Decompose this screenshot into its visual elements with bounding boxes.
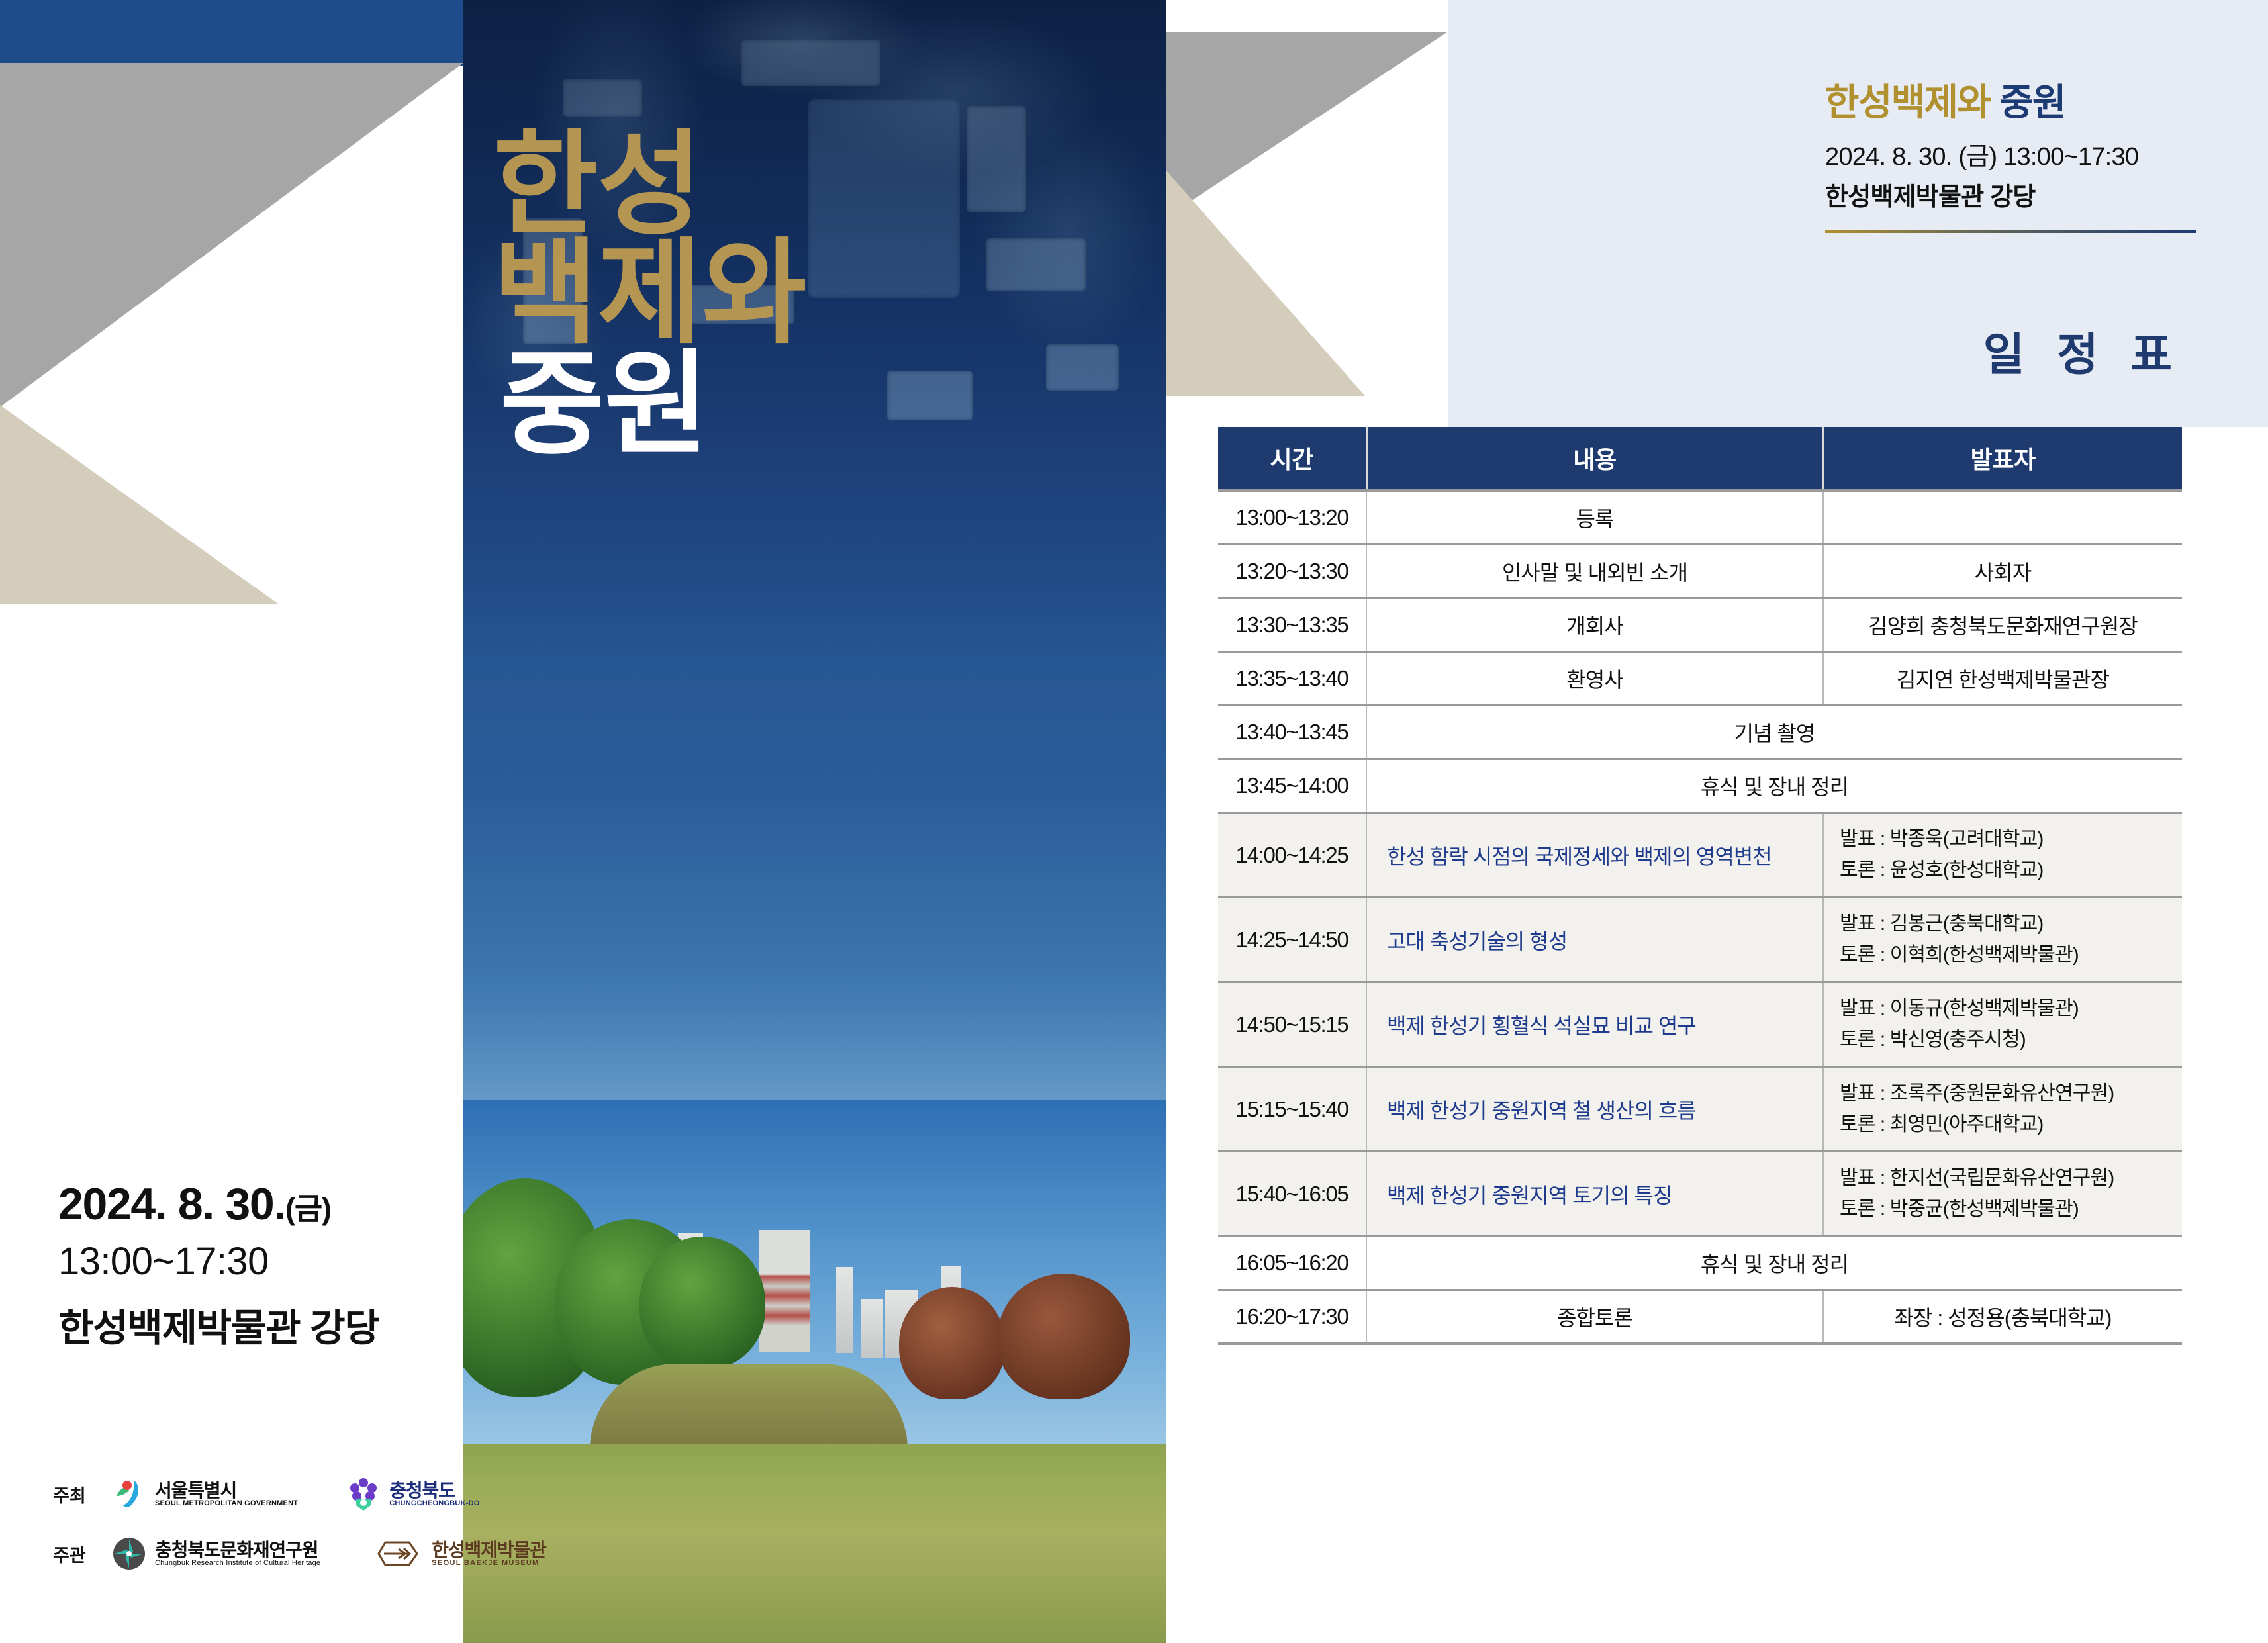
column-header-content: 내용 xyxy=(1366,427,1823,491)
table-row: 13:20~13:30인사말 및 내외빈 소개사회자 xyxy=(1218,545,2182,598)
poster-title-line-3: 중원 xyxy=(500,352,1155,457)
poster-title-line-1: 한성 xyxy=(493,132,1155,237)
organizer-org-en: SEOUL BAEKJE MUSEUM xyxy=(432,1560,545,1568)
cell-time: 15:15~15:40 xyxy=(1218,1067,1366,1152)
cell-content: 고대 축성기술의 형성 xyxy=(1366,898,1823,982)
discussant-line: 토론 : 이혁희(한성백제박물관) xyxy=(1840,940,2174,971)
organizer-row: 주관 xyxy=(53,1536,577,1572)
cell-time: 14:25~14:50 xyxy=(1218,898,1366,982)
presenter-line: 발표 : 조록주(중원문화유산연구원) xyxy=(1840,1078,2174,1109)
table-row: 14:25~14:50고대 축성기술의 형성발표 : 김봉근(충북대학교)토론 … xyxy=(1218,898,2182,982)
seoul-baekje-museum-logo-text: 한성백제박물관 SEOUL BAEKJE MUSEUM xyxy=(432,1540,545,1568)
column-header-speaker: 발표자 xyxy=(1823,427,2182,491)
table-row: 14:50~15:15백제 한성기 횡혈식 석실묘 비교 연구발표 : 이동규(… xyxy=(1218,982,2182,1067)
cell-content: 백제 한성기 중원지역 토기의 특징 xyxy=(1366,1152,1823,1237)
event-info-block: 2024. 8. 30.(금) 13:00~17:30 한성백제박물관 강당 xyxy=(58,1178,379,1352)
credits-block: 주최 서울특별시 SEOUL METROPOLITAN GOVERNMENT xyxy=(53,1476,577,1595)
cell-content: 등록 xyxy=(1366,491,1823,545)
cell-speaker: 발표 : 한지선(국립문화유산연구원)토론 : 박중균(한성백제박물관) xyxy=(1823,1152,2182,1237)
discussant-line: 토론 : 윤성호(한성대학교) xyxy=(1840,855,2174,886)
host-org-ko: 서울특별시 xyxy=(155,1481,298,1500)
organizer-label: 주관 xyxy=(53,1541,94,1567)
schedule-table: 시간 내용 발표자 13:00~13:20등록13:20~13:30인사말 및 … xyxy=(1218,427,2182,1345)
cell-content: 인사말 및 내외빈 소개 xyxy=(1366,545,1823,598)
credit-org-seoul: 서울특별시 SEOUL METROPOLITAN GOVERNMENT xyxy=(111,1476,298,1512)
tree xyxy=(899,1287,1005,1399)
poster-panel: 한성 백제와 중원 2024. 8. 30.(금) 13:00~17:30 한성… xyxy=(0,0,1166,1643)
table-row: 13:45~14:00휴식 및 장내 정리 xyxy=(1218,759,2182,813)
chungbuk-institute-logo-text: 충청북도문화재연구원 Chungbuk Research Institute o… xyxy=(155,1540,320,1568)
cell-speaker: 좌장 : 성정용(충북대학교) xyxy=(1823,1290,2182,1344)
cell-speaker: 사회자 xyxy=(1823,545,2182,598)
credit-org-seoul-baekje-museum: 한성백제박물관 SEOUL BAEKJE MUSEUM xyxy=(368,1536,545,1572)
table-row: 13:00~13:20등록 xyxy=(1218,491,2182,545)
chungbuk-logo-text: 충청북도 CHUNGCHEONGBUK-DO xyxy=(389,1481,479,1508)
cell-content: 개회사 xyxy=(1366,598,1823,652)
credit-org-chungbuk-institute: 충청북도문화재연구원 Chungbuk Research Institute o… xyxy=(111,1536,320,1572)
presenter-line: 발표 : 한지선(국립문화유산연구원) xyxy=(1840,1163,2174,1194)
table-row: 16:20~17:30종합토론좌장 : 성정용(충북대학교) xyxy=(1218,1290,2182,1344)
cell-time: 14:00~14:25 xyxy=(1218,813,1366,898)
seoul-logo-icon xyxy=(111,1476,147,1512)
schedule-meta-venue: 한성백제박물관 강당 xyxy=(1825,176,2196,212)
building xyxy=(861,1299,883,1358)
decor-triangle-grey xyxy=(0,63,463,407)
organizer-org-en: Chungbuk Research Institute of Cultural … xyxy=(155,1560,320,1568)
burial-mound xyxy=(590,1364,908,1450)
table-row: 13:30~13:35개회사김양희 충청북도문화재연구원장 xyxy=(1218,598,2182,652)
cell-content: 환영사 xyxy=(1366,652,1823,706)
table-row: 14:00~14:25한성 함락 시점의 국제정세와 백제의 영역변천발표 : … xyxy=(1218,813,2182,898)
cell-content: 한성 함락 시점의 국제정세와 백제의 영역변천 xyxy=(1366,813,1823,898)
decor-triangle-beige-right xyxy=(1166,171,1365,396)
decor-triangle-navy xyxy=(0,0,463,66)
organizer-org-ko: 한성백제박물관 xyxy=(432,1540,545,1560)
event-day-of-week: (금) xyxy=(285,1192,331,1226)
cell-content: 휴식 및 장내 정리 xyxy=(1366,1237,2182,1290)
cell-time: 13:20~13:30 xyxy=(1218,545,1366,598)
building xyxy=(836,1267,853,1353)
table-row: 15:40~16:05백제 한성기 중원지역 토기의 특징발표 : 한지선(국립… xyxy=(1218,1152,2182,1237)
cell-speaker: 발표 : 이동규(한성백제박물관)토론 : 박신영(충주시청) xyxy=(1823,982,2182,1067)
schedule-kicker: 한성백제와 중원 xyxy=(1825,73,2196,126)
event-date-line: 2024. 8. 30.(금) xyxy=(58,1178,379,1230)
cell-content: 백제 한성기 중원지역 철 생산의 흐름 xyxy=(1366,1067,1823,1152)
column-header-time: 시간 xyxy=(1218,427,1366,491)
cell-speaker: 발표 : 박종욱(고려대학교)토론 : 윤성호(한성대학교) xyxy=(1823,813,2182,898)
schedule-meta-datetime: 2024. 8. 30. (금) 13:00~17:30 xyxy=(1825,136,2196,172)
cell-speaker: 발표 : 조록주(중원문화유산연구원)토론 : 최영민(아주대학교) xyxy=(1823,1067,2182,1152)
cell-time: 13:40~13:45 xyxy=(1218,706,1366,759)
schedule-table-body: 13:00~13:20등록13:20~13:30인사말 및 내외빈 소개사회자1… xyxy=(1218,491,2182,1344)
presenter-line: 발표 : 이동규(한성백제박물관) xyxy=(1840,994,2174,1025)
discussant-line: 토론 : 최영민(아주대학교) xyxy=(1840,1109,2174,1141)
cell-content: 종합토론 xyxy=(1366,1290,1823,1344)
cell-time: 13:30~13:35 xyxy=(1218,598,1366,652)
host-row: 주최 서울특별시 SEOUL METROPOLITAN GOVERNMENT xyxy=(53,1476,577,1512)
cell-speaker xyxy=(1823,491,2182,545)
cell-speaker: 김지연 한성백제박물관장 xyxy=(1823,652,2182,706)
host-org-ko: 충청북도 xyxy=(389,1481,479,1500)
cell-time: 15:40~16:05 xyxy=(1218,1152,1366,1237)
chungbuk-logo-icon xyxy=(346,1476,381,1512)
table-row: 13:40~13:45기념 촬영 xyxy=(1218,706,2182,759)
cell-speaker: 발표 : 김봉근(충북대학교)토론 : 이혁희(한성백제박물관) xyxy=(1823,898,2182,982)
building xyxy=(759,1230,810,1352)
organizer-org-ko: 충청북도문화재연구원 xyxy=(155,1540,320,1560)
cell-content: 기념 촬영 xyxy=(1366,706,2182,759)
discussant-line: 토론 : 박신영(충주시청) xyxy=(1840,1025,2174,1056)
cell-time: 13:45~14:00 xyxy=(1218,759,1366,813)
cell-time: 16:05~16:20 xyxy=(1218,1237,1366,1290)
discussant-line: 토론 : 박중균(한성백제박물관) xyxy=(1840,1194,2174,1225)
cell-time: 13:00~13:20 xyxy=(1218,491,1366,545)
event-venue: 한성백제박물관 강당 xyxy=(58,1297,379,1352)
schedule-header-rule xyxy=(1825,230,2196,233)
cell-time: 13:35~13:40 xyxy=(1218,652,1366,706)
schedule-header: 한성백제와 중원 2024. 8. 30. (금) 13:00~17:30 한성… xyxy=(1825,73,2196,233)
tree xyxy=(639,1237,765,1369)
event-date: 2024. 8. 30. xyxy=(58,1179,285,1229)
cell-time: 16:20~17:30 xyxy=(1218,1290,1366,1344)
poster-title: 한성 백제와 중원 xyxy=(493,132,1155,457)
presenter-line: 발표 : 박종욱(고려대학교) xyxy=(1840,824,2174,855)
table-header-row: 시간 내용 발표자 xyxy=(1218,427,2182,491)
credit-org-chungbuk: 충청북도 CHUNGCHEONGBUK-DO xyxy=(346,1476,479,1512)
table-row: 13:35~13:40환영사김지연 한성백제박물관장 xyxy=(1218,652,2182,706)
presenter-line: 발표 : 김봉근(충북대학교) xyxy=(1840,909,2174,940)
schedule-kicker-navy: 중원 xyxy=(1999,81,2065,123)
cell-speaker: 김양희 충청북도문화재연구원장 xyxy=(1823,598,2182,652)
cell-time: 14:50~15:15 xyxy=(1218,982,1366,1067)
event-time: 13:00~17:30 xyxy=(58,1239,379,1284)
schedule-section-title: 일 정 표 xyxy=(1983,318,2182,383)
seoul-logo-text: 서울특별시 SEOUL METROPOLITAN GOVERNMENT xyxy=(155,1481,298,1508)
table-row: 16:05~16:20휴식 및 장내 정리 xyxy=(1218,1237,2182,1290)
chungbuk-institute-logo-icon xyxy=(111,1536,147,1572)
poster-title-line-2: 백제와 xyxy=(493,241,1155,346)
schedule-kicker-gold: 한성백제와 xyxy=(1825,81,1990,123)
cell-content: 휴식 및 장내 정리 xyxy=(1366,759,2182,813)
host-org-en: CHUNGCHEONGBUK-DO xyxy=(389,1500,479,1508)
host-org-en: SEOUL METROPOLITAN GOVERNMENT xyxy=(155,1500,298,1508)
table-row: 15:15~15:40백제 한성기 중원지역 철 생산의 흐름발표 : 조록주(… xyxy=(1218,1067,2182,1152)
tree xyxy=(998,1274,1130,1399)
host-label: 주최 xyxy=(53,1481,94,1507)
seoul-baekje-museum-logo-icon xyxy=(368,1536,424,1572)
decor-triangle-beige xyxy=(0,405,278,604)
cell-content: 백제 한성기 횡혈식 석실묘 비교 연구 xyxy=(1366,982,1823,1067)
